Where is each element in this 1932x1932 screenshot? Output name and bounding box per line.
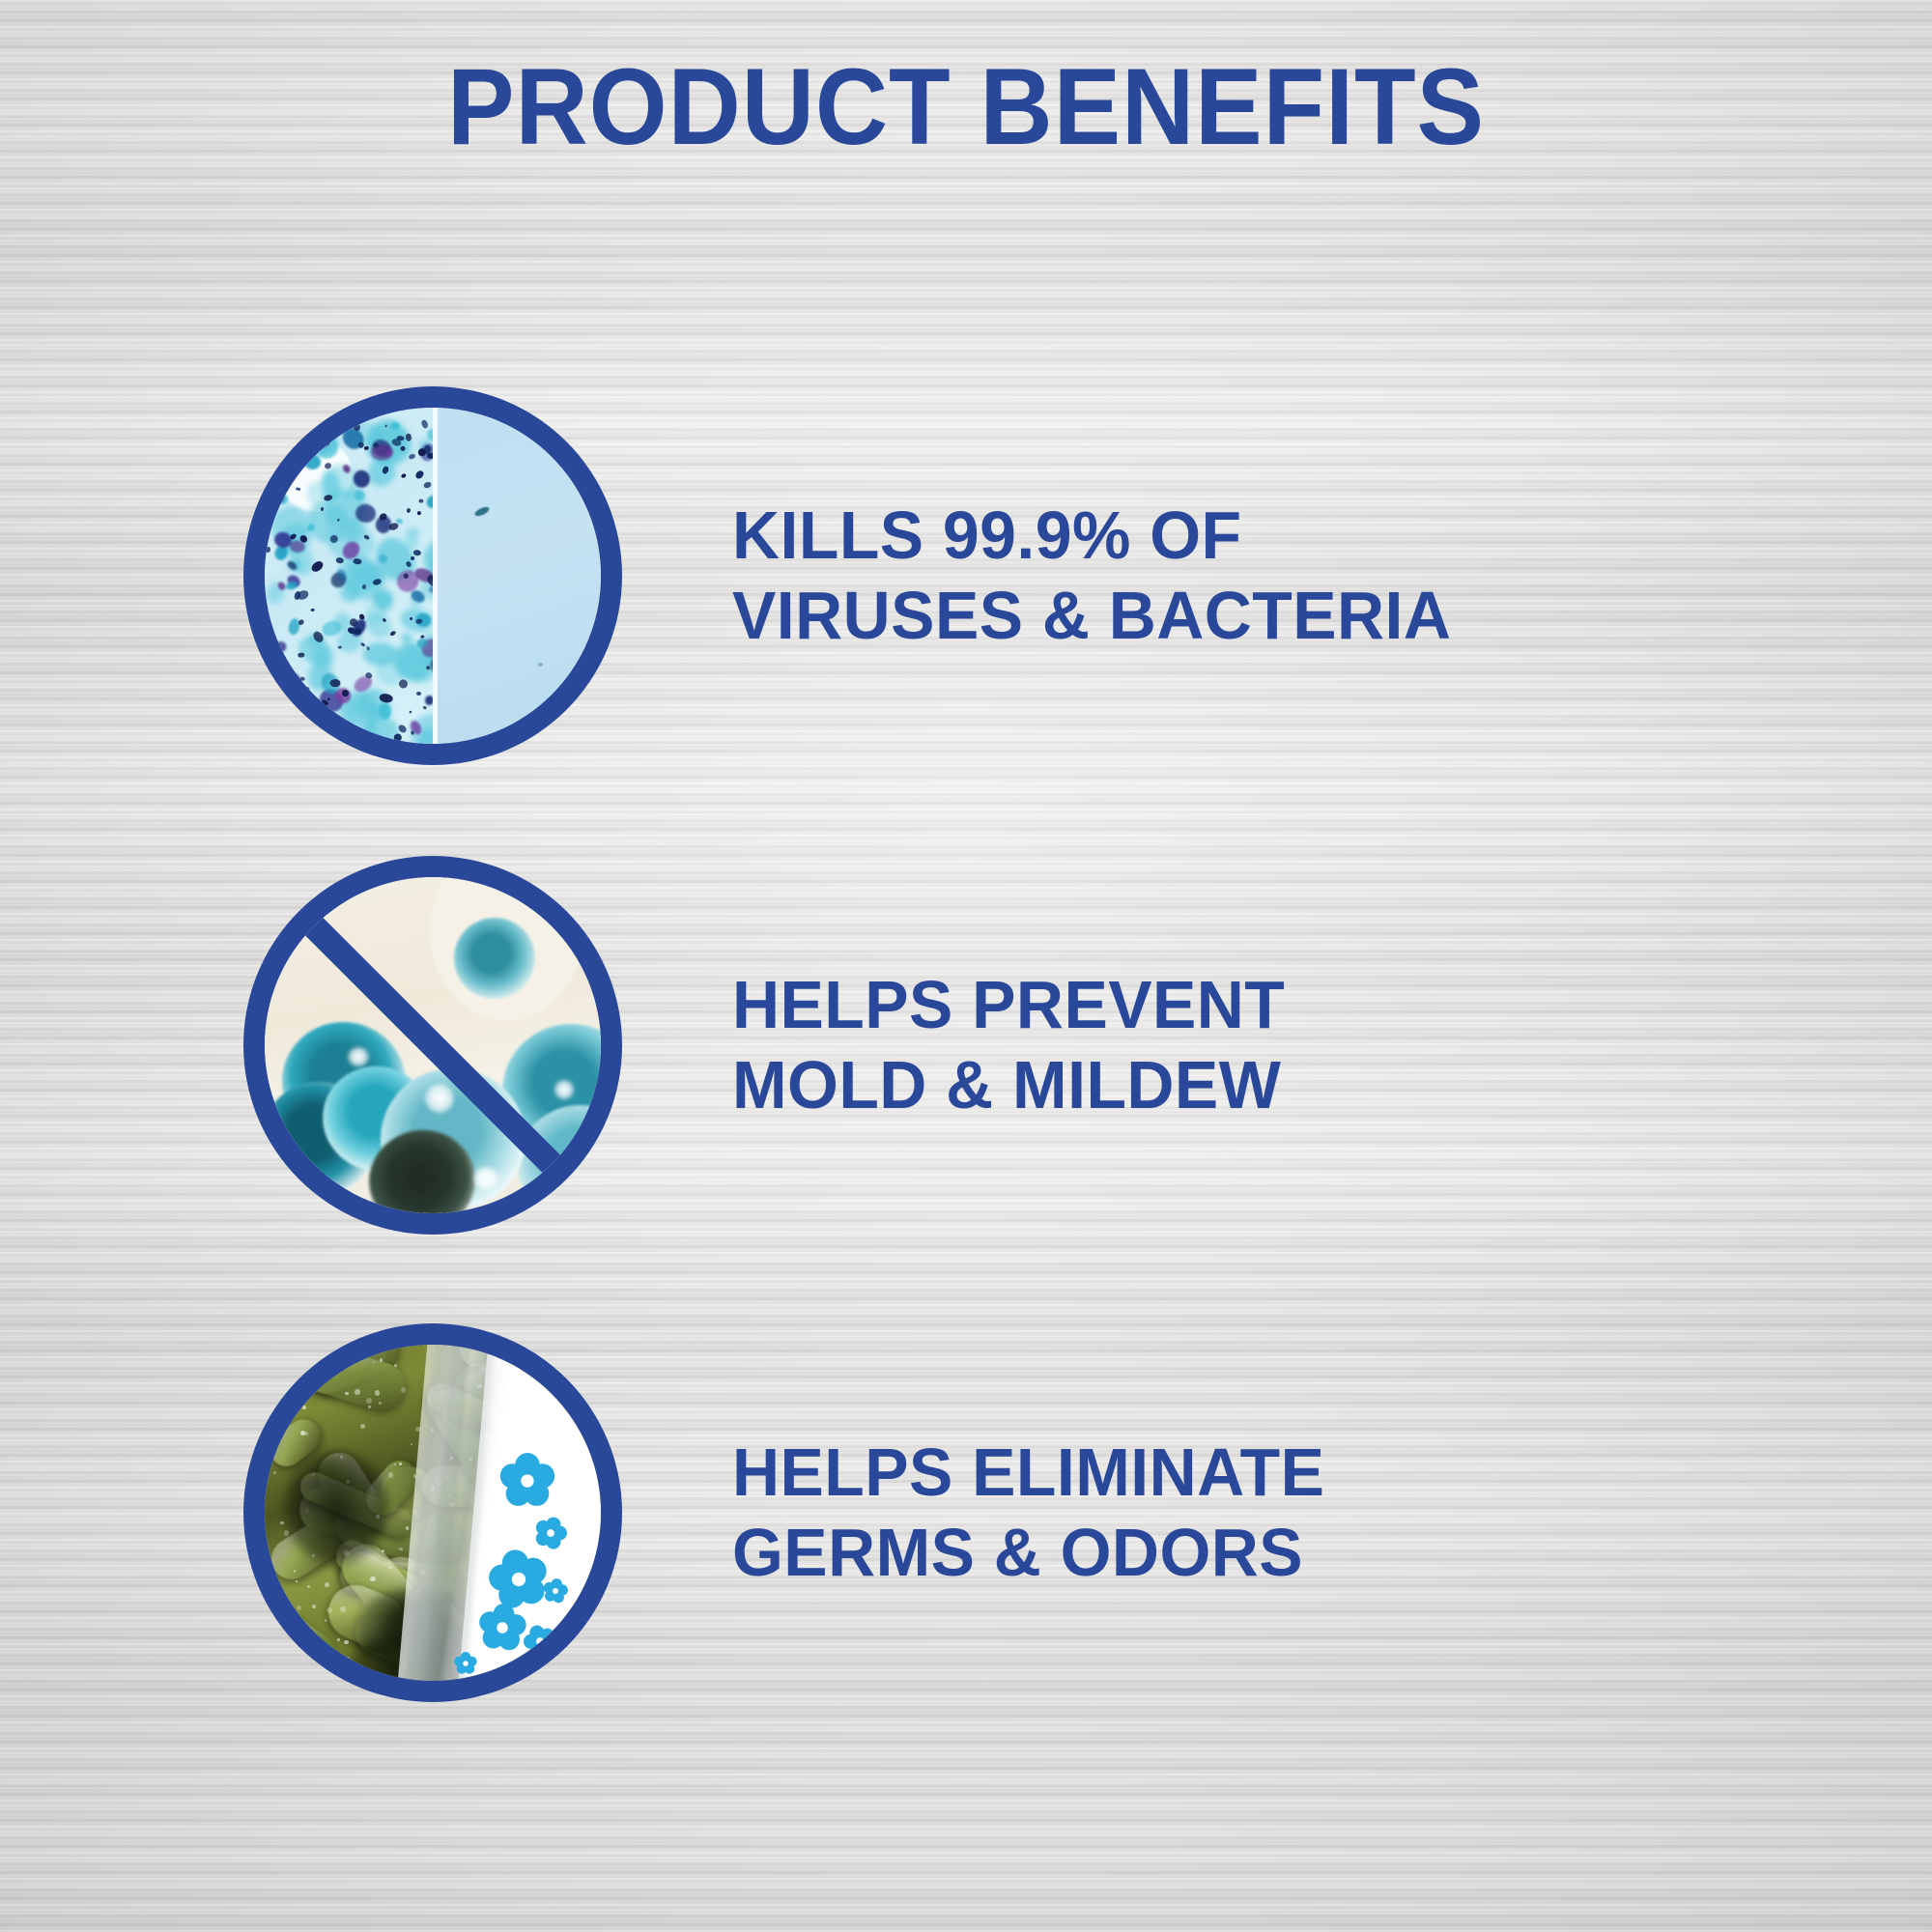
benefit-line1-1: KILLS 99.9% OF xyxy=(732,497,1241,573)
bacteria-dot xyxy=(298,618,304,625)
bacteria-dot xyxy=(359,641,365,647)
benefit-icon-wrap-3 xyxy=(230,1345,636,1681)
bacteria-surface-speck xyxy=(382,1549,384,1552)
bacteria-surface-speck xyxy=(344,1640,348,1644)
freshness-flower-icon xyxy=(476,1602,529,1655)
bacteria-surface-speck xyxy=(337,1638,340,1641)
germs-to-fresh-scent-icon xyxy=(265,1345,601,1681)
bacteria-surface-speck xyxy=(296,1580,298,1582)
mold-white-fluff xyxy=(554,1080,574,1099)
residual-bacteria-dot xyxy=(538,663,543,667)
bacteria-surface-speck xyxy=(280,1521,284,1525)
petri-dirty-half xyxy=(265,408,434,744)
bacteria-surface-speck xyxy=(361,1347,364,1350)
bacteria-dot xyxy=(311,608,315,611)
bacteria-dot xyxy=(296,487,300,491)
bacteria-dot xyxy=(308,728,319,740)
bacteria-dot xyxy=(329,735,338,744)
freshness-flower-icon xyxy=(499,1453,555,1509)
bacteria-surface-speck xyxy=(303,1399,306,1402)
bacteria-surface-speck xyxy=(274,1637,280,1643)
bacteria-surface-speck xyxy=(340,1606,346,1612)
page-title: PRODUCT BENEFITS xyxy=(68,50,1864,164)
bacteria-surface-speck xyxy=(388,1472,394,1478)
freshness-flower-icon xyxy=(541,1577,570,1605)
bacteria-dot xyxy=(411,730,414,734)
freshness-flower-icon xyxy=(454,1652,477,1675)
bacteria-surface-speck xyxy=(302,1674,305,1677)
benefit-line2-2: MOLD & MILDEW xyxy=(732,1045,1285,1125)
bacteria-surface-speck xyxy=(302,1406,306,1409)
bacteria-dot xyxy=(303,686,310,692)
benefit-row-prevent-mold-mildew: HELPS PREVENT MOLD & MILDEW xyxy=(0,877,1302,1213)
bacteria-dot xyxy=(335,557,344,564)
petri-dish-split-before-after-icon xyxy=(265,408,601,744)
benefit-text-1: KILLS 99.9% OF VIRUSES & BACTERIA xyxy=(732,496,1451,655)
bacteria-colony-blob xyxy=(285,581,298,591)
bacteria-surface-speck xyxy=(368,1406,371,1408)
benefit-line1-3: HELPS ELIMINATE xyxy=(732,1435,1324,1510)
mold-white-fluff xyxy=(473,1167,498,1190)
benefit-row-eliminate-germs-odors: HELPS ELIMINATE GERMS & ODORS xyxy=(0,1345,1343,1681)
bacteria-surface-speck xyxy=(325,1619,327,1621)
bacteria-surface-speck xyxy=(401,1387,406,1392)
benefit-icon-wrap-2 xyxy=(230,877,636,1213)
sem-shadow-gap xyxy=(284,1451,389,1565)
no-mold-prohibition-icon xyxy=(265,877,601,1213)
bacteria-surface-speck xyxy=(325,1582,329,1587)
bacteria-dot xyxy=(388,523,400,532)
infographic-canvas: PRODUCT BENEFITS KILLS 99.9% OF VIRUSES … xyxy=(0,0,1932,1932)
benefit-icon-wrap-1 xyxy=(230,408,636,744)
bacteria-dot xyxy=(406,434,412,442)
bacteria-surface-speck xyxy=(327,1679,328,1681)
petri-clean-half xyxy=(435,408,601,744)
bacteria-surface-speck xyxy=(312,1605,315,1607)
benefit-text-3: HELPS ELIMINATE GERMS & ODORS xyxy=(732,1433,1324,1592)
bacteria-colony-blob xyxy=(265,417,276,430)
bacteria-dot xyxy=(266,705,278,718)
residual-bacteria-dot xyxy=(474,505,491,518)
bacteria-surface-speck xyxy=(406,1526,409,1529)
bacteria-dot xyxy=(301,734,309,742)
bacteria-colony-blob xyxy=(269,674,279,687)
bacteria-surface-speck xyxy=(304,1432,308,1435)
bacteria-dot xyxy=(422,706,427,711)
mold-white-fluff xyxy=(348,1047,369,1066)
bacteria-surface-speck xyxy=(379,1402,382,1405)
petri-divider-line xyxy=(433,408,438,744)
bacteria-surface-speck xyxy=(388,1566,391,1569)
benefit-line2-3: GERMS & ODORS xyxy=(732,1513,1324,1593)
bacteria-dot xyxy=(350,618,357,626)
benefit-row-kills-viruses-bacteria: KILLS 99.9% OF VIRUSES & BACTERIA xyxy=(0,408,1473,744)
bacteria-surface-speck xyxy=(300,1431,305,1435)
bacteria-surface-speck xyxy=(289,1369,292,1372)
bacteria-dot xyxy=(284,666,289,671)
bacteria-surface-speck xyxy=(394,1364,397,1367)
bacteria-dot xyxy=(409,710,412,714)
bacteria-dot xyxy=(416,692,421,696)
bacteria-surface-speck xyxy=(360,1424,365,1429)
bacteria-surface-speck xyxy=(273,1471,276,1474)
bacteria-dot xyxy=(384,424,387,428)
bacteria-dot xyxy=(400,472,406,478)
bacteria-dot xyxy=(416,511,421,515)
bacteria-surface-speck xyxy=(370,1577,375,1581)
bacteria-dot xyxy=(266,546,271,553)
bacteria-dot xyxy=(389,631,396,637)
bacteria-surface-speck xyxy=(355,1389,360,1395)
bacteria-dot xyxy=(413,550,422,556)
bacteria-surface-speck xyxy=(326,1649,329,1653)
bacteria-surface-speck xyxy=(345,1392,348,1395)
mold-white-fluff xyxy=(425,1084,454,1113)
bacteria-dot xyxy=(419,499,424,503)
bacteria-surface-speck xyxy=(307,1585,310,1588)
bacteria-surface-speck xyxy=(302,1626,305,1629)
bacteria-dot xyxy=(420,419,429,430)
benefit-line2-1: VIRUSES & BACTERIA xyxy=(732,576,1451,656)
bacteria-dot xyxy=(321,507,324,511)
benefit-text-2: HELPS PREVENT MOLD & MILDEW xyxy=(732,965,1285,1124)
bacteria-dot xyxy=(298,653,305,658)
bacteria-dot xyxy=(424,481,433,489)
bacteria-dot xyxy=(414,469,425,480)
bacteria-colony-blob xyxy=(273,640,287,653)
bacteria-dot xyxy=(407,508,412,513)
bacteria-dot xyxy=(288,698,298,707)
bacteria-dot xyxy=(299,676,305,681)
mold-colony xyxy=(454,918,535,999)
bacteria-surface-speck xyxy=(297,1605,301,1610)
bacteria-surface-speck xyxy=(411,1443,412,1445)
benefit-line1-2: HELPS PREVENT xyxy=(732,967,1285,1042)
bacteria-dot xyxy=(321,716,328,724)
